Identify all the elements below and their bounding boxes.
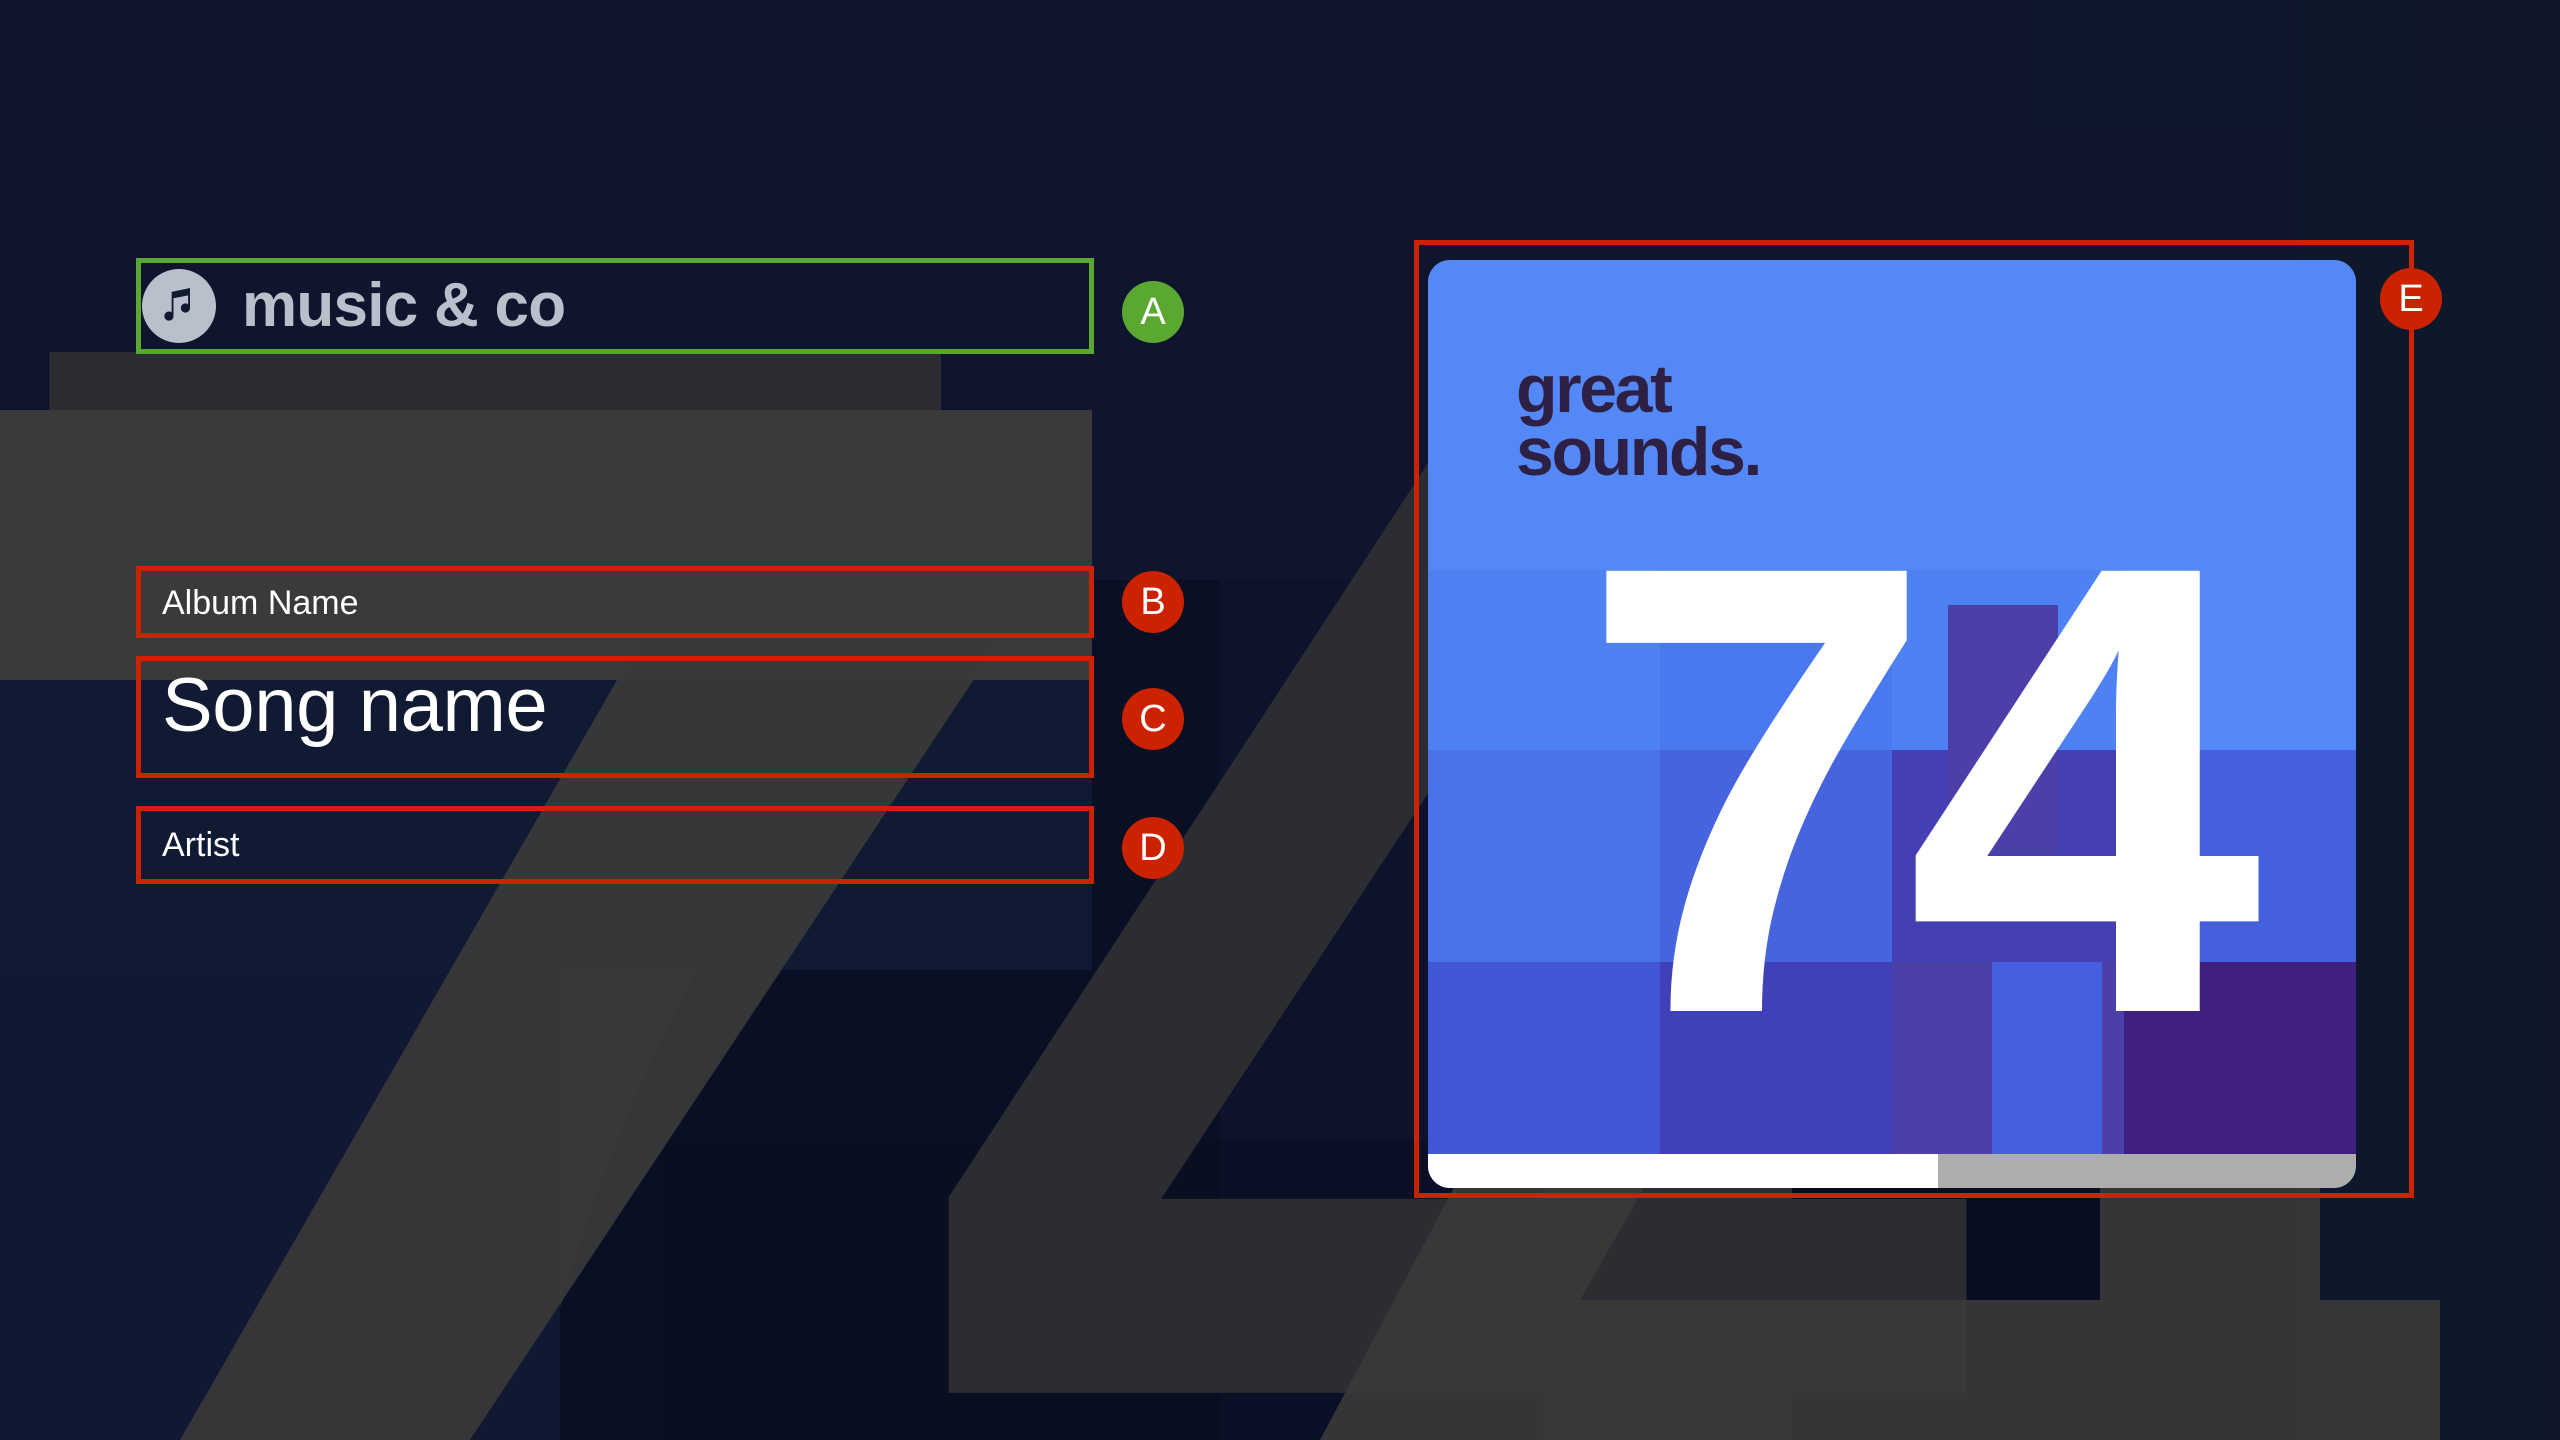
album-number: 74 [1428, 470, 2356, 1110]
annotation-pin-c-label: C [1139, 700, 1166, 738]
track-info-column: music & co Album Name Song name Artist [0, 0, 1260, 1440]
album-name-text: Album Name [142, 586, 359, 620]
annotation-pin-b-label: B [1140, 583, 1165, 621]
album-name[interactable]: Album Name [142, 572, 1088, 634]
playback-progress-bar[interactable] [1428, 1154, 2356, 1188]
brand-name: music & co [242, 275, 565, 337]
annotation-pin-d-label: D [1139, 829, 1166, 867]
player-screen: 74 music & co Album Name Song name [0, 0, 2560, 1440]
annotation-pin-e: E [2380, 268, 2442, 330]
playback-progress-fill [1428, 1154, 1938, 1188]
annotation-pin-b: B [1122, 571, 1184, 633]
brand-logo[interactable]: music & co [142, 264, 1088, 348]
artist-name-text: Artist [142, 828, 239, 862]
annotation-pin-e-label: E [2398, 280, 2423, 318]
music-note-icon [142, 269, 216, 343]
artist-name[interactable]: Artist [142, 812, 1088, 878]
annotation-pin-a-label: A [1140, 293, 1165, 331]
song-name[interactable]: Song name [142, 660, 1088, 752]
album-artwork[interactable]: great sounds. 74 [1428, 260, 2356, 1188]
annotation-pin-c: C [1122, 688, 1184, 750]
song-name-text: Song name [142, 668, 547, 744]
annotation-pin-a: A [1122, 281, 1184, 343]
annotation-pin-d: D [1122, 817, 1184, 879]
